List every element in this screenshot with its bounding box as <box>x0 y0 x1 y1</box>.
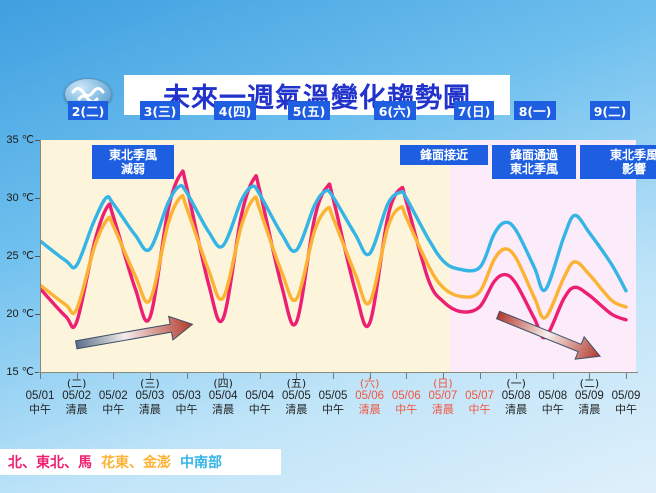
day-tab-bar: 2(二)3(三)4(四)5(五)6(六)7(日)8(一)9(二) <box>0 101 656 121</box>
day-tab-6[interactable]: 7(日) <box>454 101 494 120</box>
weather-chart-page: 未來一週氣溫變化趨勢圖 2(二)3(三)4(四)5(五)6(六)7(日)8(一)… <box>0 0 656 493</box>
warming-trend-arrow-icon <box>68 308 208 358</box>
annotation-badge-1: 東北季風減弱 <box>92 145 174 179</box>
day-tab-2[interactable]: 3(三) <box>140 101 180 120</box>
x-label-group: 05/09中午 <box>600 378 652 416</box>
legend-item-2: 花東、金澎 <box>101 452 171 472</box>
x-label-time: 中午 <box>600 403 652 416</box>
y-tick-label: 35 ℃ <box>2 133 34 146</box>
x-label-date: 05/09 <box>600 390 652 403</box>
header: 未來一週氣溫變化趨勢圖 <box>0 36 656 88</box>
cooling-trend-arrow-icon <box>490 308 620 368</box>
y-tick-label: 30 ℃ <box>2 191 34 204</box>
annotation-badge-3: 鋒面通過東北季風 <box>492 145 576 179</box>
y-tick-label: 15 ℃ <box>2 365 34 378</box>
legend: 北、東北、馬花東、金澎中南部 <box>0 449 281 475</box>
temperature-chart: 15 ℃20 ℃25 ℃30 ℃35 ℃ 東北季風減弱鋒面接近鋒面通過東北季風東… <box>0 125 656 375</box>
day-tab-8[interactable]: 9(二) <box>590 101 630 120</box>
legend-item-1: 北、東北、馬 <box>8 452 92 472</box>
day-tab-1[interactable]: 2(二) <box>68 101 108 120</box>
day-tab-3[interactable]: 4(四) <box>214 101 256 120</box>
y-axis-line <box>40 140 41 372</box>
series-line-花東、金澎 <box>40 196 626 318</box>
day-tab-4[interactable]: 5(五) <box>288 101 330 120</box>
annotation-badge-4: 東北季風影響 <box>580 145 656 179</box>
x-axis-line <box>38 372 638 373</box>
annotation-badge-2: 鋒面接近 <box>400 145 488 165</box>
y-tick-label: 25 ℃ <box>2 249 34 262</box>
y-tick-label: 20 ℃ <box>2 307 34 320</box>
x-axis-labels: 05/01中午(二)05/02清晨 05/02中午(三)05/03清晨 05/0… <box>0 378 656 430</box>
day-tab-7[interactable]: 8(一) <box>514 101 556 120</box>
legend-item-3: 中南部 <box>180 452 222 472</box>
day-tab-5[interactable]: 6(六) <box>374 101 416 120</box>
x-label-weekday <box>600 378 652 390</box>
